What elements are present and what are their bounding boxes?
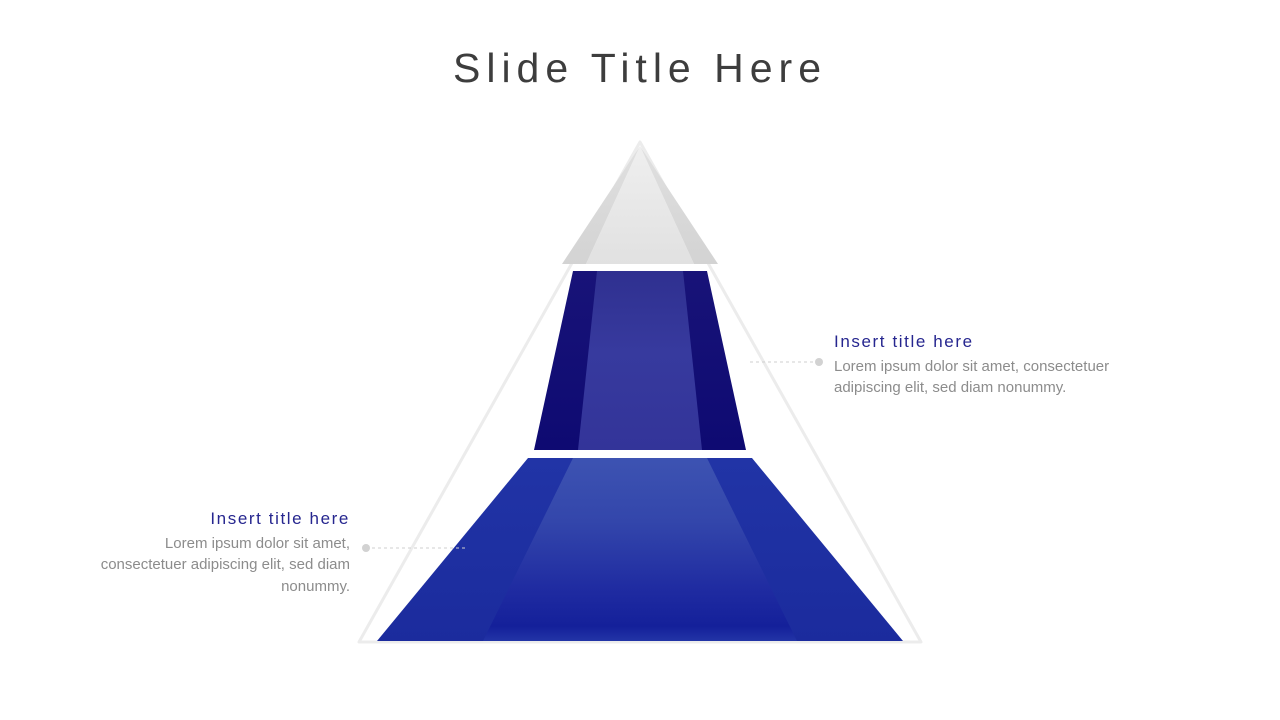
callout-right[interactable]: Insert title here Lorem ipsum dolor sit … bbox=[834, 332, 1134, 399]
callout-left-title: Insert title here bbox=[98, 509, 350, 529]
connector-dot-left bbox=[362, 544, 370, 552]
connector-dot-right bbox=[815, 358, 823, 366]
pyramid-level-middle[interactable] bbox=[534, 271, 746, 450]
callout-left-body: Lorem ipsum dolor sit amet, consectetuer… bbox=[98, 533, 350, 597]
pyramid-level-bottom[interactable] bbox=[377, 458, 903, 641]
slide-canvas: Slide Title Here bbox=[0, 0, 1280, 720]
pyramid-level-top[interactable] bbox=[562, 146, 718, 264]
callout-right-body: Lorem ipsum dolor sit amet, consectetuer… bbox=[834, 356, 1134, 399]
page-title: Slide Title Here bbox=[0, 45, 1280, 92]
middle-center-facet bbox=[578, 271, 702, 450]
callout-left[interactable]: Insert title here Lorem ipsum dolor sit … bbox=[98, 509, 350, 597]
callout-right-title: Insert title here bbox=[834, 332, 1134, 352]
